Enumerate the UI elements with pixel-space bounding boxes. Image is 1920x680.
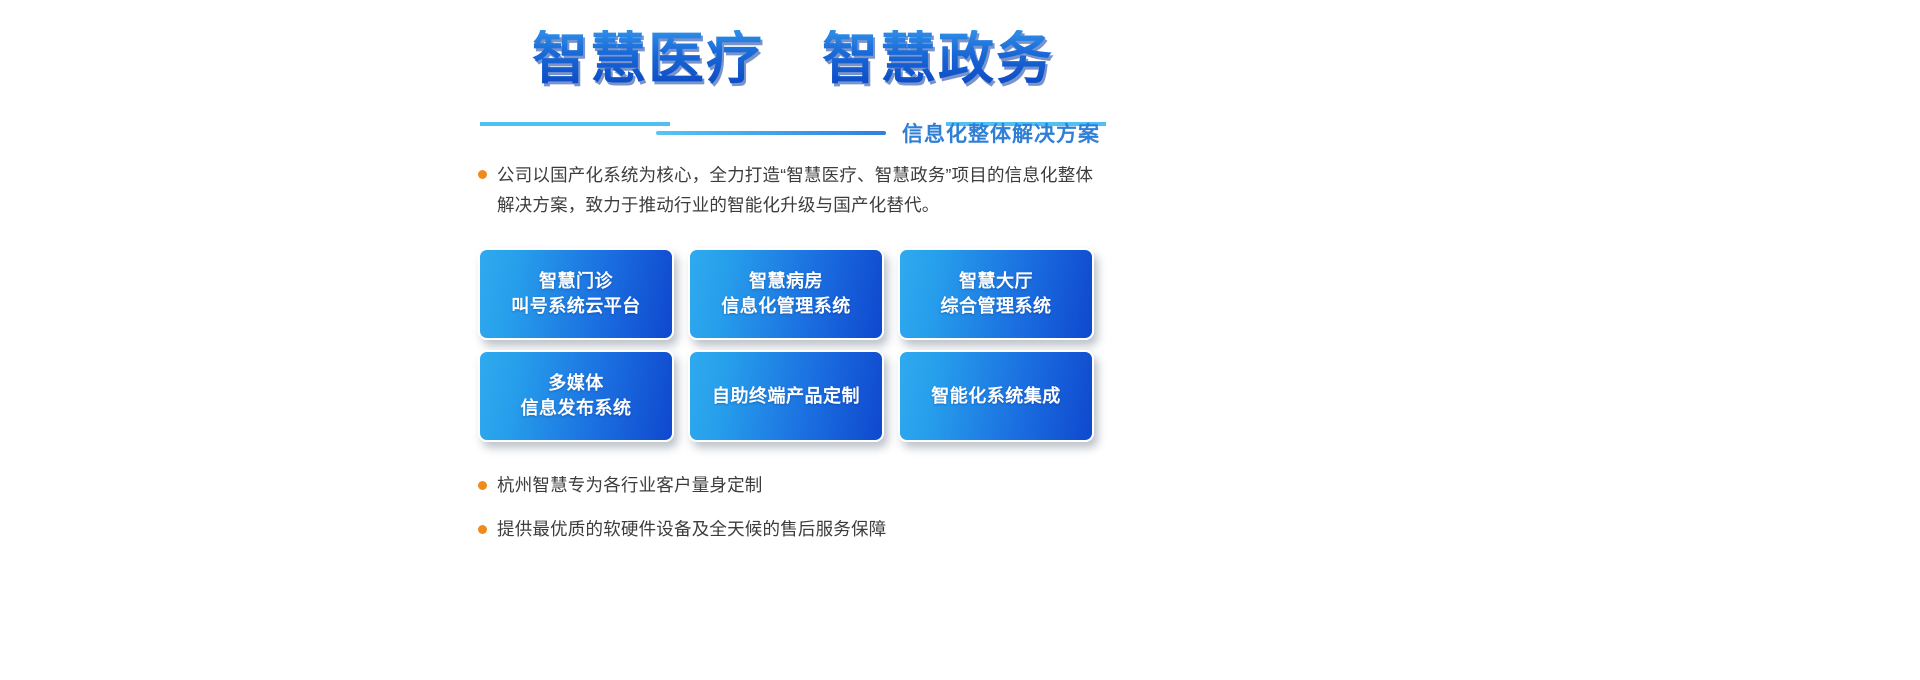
solution-card-label: 智能化系统集成	[931, 384, 1061, 409]
list-item-label: 提供最优质的软硬件设备及全天候的售后服务保障	[497, 516, 886, 542]
page-root: 智慧医疗 智慧政务 信息化整体解决方案 公司以国产化系统为核心，全力打造“智慧医…	[0, 0, 1920, 680]
solution-card[interactable]: 多媒体 信息发布系统	[478, 350, 674, 442]
solution-card[interactable]: 智慧病房 信息化管理系统	[688, 248, 884, 340]
solution-card[interactable]: 自助终端产品定制	[688, 350, 884, 442]
list-item: 提供最优质的软硬件设备及全天候的售后服务保障	[478, 516, 1098, 542]
page-subtitle: 信息化整体解决方案	[478, 118, 1108, 148]
header: 智慧医疗 智慧政务 信息化整体解决方案	[478, 22, 1108, 142]
solution-card-label: 智慧病房 信息化管理系统	[721, 269, 851, 319]
page-subtitle-text: 信息化整体解决方案	[902, 118, 1100, 148]
solution-card-grid: 智慧门诊 叫号系统云平台 智慧病房 信息化管理系统 智慧大厅 综合管理系统 多媒…	[478, 248, 1094, 442]
solution-card-label: 智慧大厅 综合管理系统	[941, 269, 1052, 319]
solution-card-label: 智慧门诊 叫号系统云平台	[511, 269, 641, 319]
list-item-label: 杭州智慧专为各行业客户量身定制	[497, 472, 763, 498]
solution-card[interactable]: 智慧门诊 叫号系统云平台	[478, 248, 674, 340]
intro-text: 公司以国产化系统为核心，全力打造“智慧医疗、智慧政务”项目的信息化整体解决方案，…	[497, 160, 1098, 220]
page-title-text: 智慧医疗 智慧政务	[532, 30, 1054, 89]
solution-card-label: 自助终端产品定制	[712, 384, 860, 409]
solution-card-label: 多媒体 信息发布系统	[521, 371, 632, 421]
solution-card[interactable]: 智能化系统集成	[898, 350, 1094, 442]
list-item: 杭州智慧专为各行业客户量身定制	[478, 472, 1098, 498]
bullet-dot-icon	[478, 170, 487, 179]
footer-bullets: 杭州智慧专为各行业客户量身定制 提供最优质的软硬件设备及全天候的售后服务保障	[478, 472, 1098, 542]
bullet-dot-icon	[478, 525, 487, 534]
solution-card[interactable]: 智慧大厅 综合管理系统	[898, 248, 1094, 340]
bullet-dot-icon	[478, 481, 487, 490]
page-title: 智慧医疗 智慧政务	[478, 30, 1108, 89]
subtitle-rule	[656, 131, 886, 135]
intro-paragraph: 公司以国产化系统为核心，全力打造“智慧医疗、智慧政务”项目的信息化整体解决方案，…	[478, 160, 1098, 220]
